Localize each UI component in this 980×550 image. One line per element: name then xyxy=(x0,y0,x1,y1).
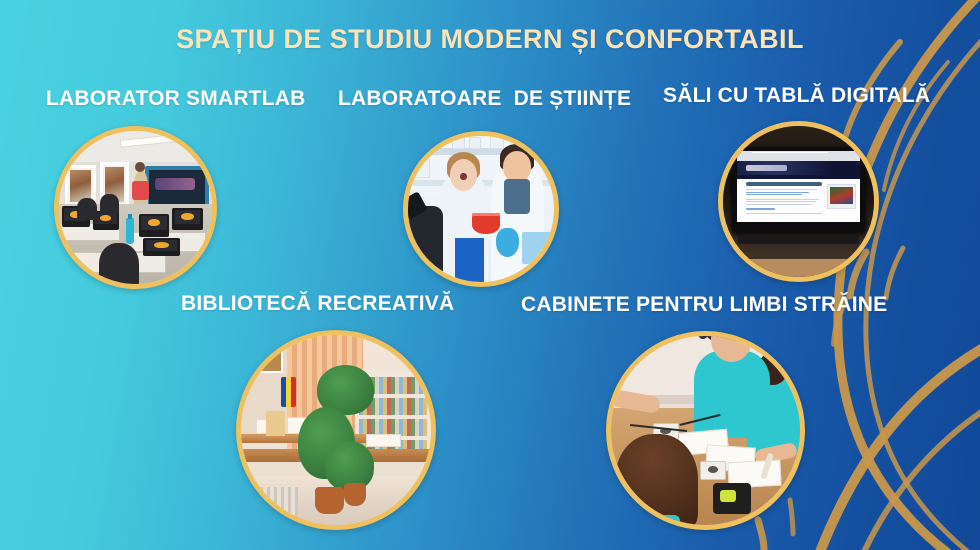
photo-circle-sali-cu-tabla-digitala: IELTS, CAE, FCE — Practice Tests and Tip… xyxy=(718,121,879,282)
page-title: SPAȚIU DE STUDIU MODERN ȘI CONFORTABIL xyxy=(0,24,980,55)
label-laboratoare-de-stiinte: LABORATOARE DE ȘTIINȚE xyxy=(338,87,631,111)
board-screen-heading: IELTS, CAE, FCE — Practice Tests and Tip… xyxy=(746,182,822,185)
photo-circle-laborator-smartlab xyxy=(54,126,217,289)
photo-circle-laboratoare-de-stiinte xyxy=(403,131,559,287)
label-biblioteca-recreativa: BIBLIOTECĂ RECREATIVĂ xyxy=(181,292,454,316)
photo-science-lab xyxy=(408,136,554,282)
photo-circle-cabinete-pentru-limbi-straine xyxy=(606,331,805,530)
photo-library xyxy=(241,335,431,525)
photo-circle-biblioteca-recreativa xyxy=(236,330,436,530)
label-laborator-smartlab: LABORATOR SMARTLAB xyxy=(46,87,305,111)
label-sali-cu-tabla-digitala: SĂLI CU TABLĂ DIGITALĂ xyxy=(663,84,930,108)
photo-computer-lab xyxy=(59,131,212,284)
label-cabinete-pentru-limbi-straine: CABINETE PENTRU LIMBI STRĂINE xyxy=(521,293,887,317)
photo-digital-board: IELTS, CAE, FCE — Practice Tests and Tip… xyxy=(723,126,874,277)
photo-language-lab xyxy=(611,336,800,525)
